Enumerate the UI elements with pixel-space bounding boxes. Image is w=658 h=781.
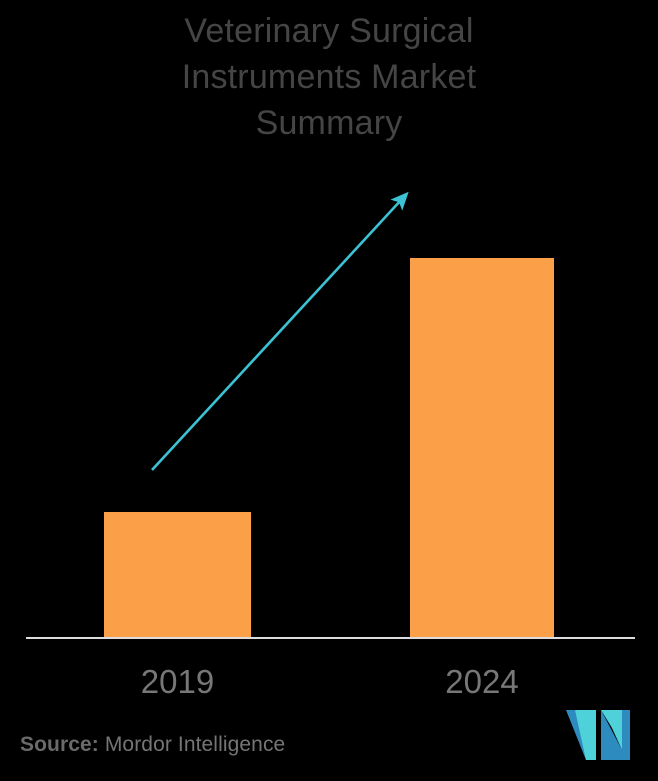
plot-area: 2019 2024 xyxy=(0,0,658,700)
source-label: Source: xyxy=(20,733,99,756)
mordor-intelligence-logo-icon xyxy=(566,710,632,760)
source-value: Mordor Intelligence xyxy=(105,733,286,756)
x-tick-label-2024: 2024 xyxy=(410,660,554,704)
x-axis-line xyxy=(26,637,635,639)
x-tick-label-2019: 2019 xyxy=(104,660,251,704)
bar-2019 xyxy=(104,512,251,637)
growth-trend-arrow-icon xyxy=(130,175,430,495)
footer: Source: Mordor Intelligence xyxy=(0,705,658,781)
source-attribution: Source: Mordor Intelligence xyxy=(20,733,285,757)
chart-canvas: Veterinary Surgical Instruments Market S… xyxy=(0,0,658,781)
bar-2024 xyxy=(410,258,554,637)
